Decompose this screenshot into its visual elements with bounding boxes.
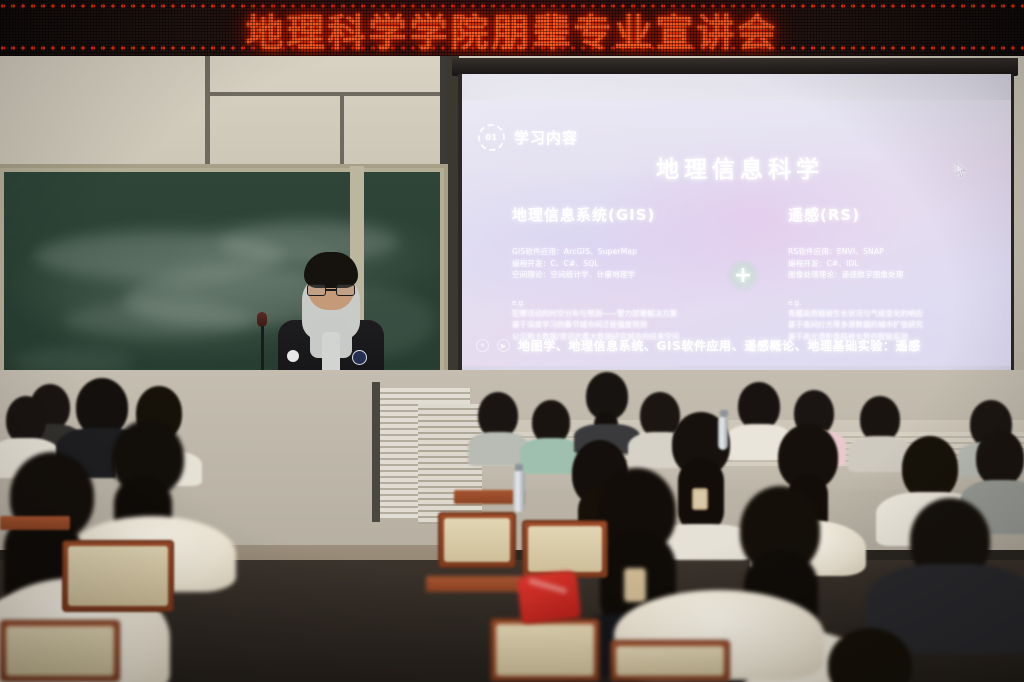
slide-footer-text: 地图学、地理信息系统、GIS软件应用、遥感概论、地理基础实验：遥感: [518, 337, 921, 354]
chair: [610, 640, 730, 682]
wall-seam: [205, 56, 210, 166]
audience-member: [578, 372, 636, 450]
gis-eg-line: 基于深度学习的春节城市间迁徙强度预测: [512, 319, 727, 331]
column-heading-gis: 地理信息系统(GIS): [512, 204, 727, 225]
column-gis-examples: e.g. 犯罪活动的时空分布与预测——警力部署解决方案 基于深度学习的春节城市间…: [512, 298, 727, 343]
gis-eg-label: e.g.: [512, 298, 727, 308]
desk: [0, 516, 70, 530]
microphone-head: [257, 312, 267, 327]
projection-screen: 01 学习内容 地理信息科学 地理信息系统(GIS) GIS软件应用：ArcGI…: [458, 74, 1014, 392]
mouse-cursor-icon: [956, 163, 966, 177]
presentation-slide: 01 学习内容 地理信息科学 地理信息系统(GIS) GIS软件应用：ArcGI…: [462, 100, 1014, 366]
water-bottle: [718, 416, 728, 450]
wall-post: [372, 382, 380, 522]
gis-line: 空间理论：空间统计学、计量地理学: [512, 269, 727, 281]
chair-pad: [528, 526, 602, 572]
column-heading-rs: 遥感(RS): [788, 204, 993, 225]
rs-eg-line: 青藏高原植被生长状况与气候变化的响应: [788, 308, 993, 320]
column-rs-examples: e.g. 青藏高原植被生长状况与气候变化的响应 基于夜间灯光等多源数据的城市扩张…: [788, 298, 993, 343]
section-number: 01: [478, 124, 505, 151]
glasses-lens-right: [336, 284, 355, 296]
bottle-cap: [515, 464, 523, 471]
slide-footer: ⏸ ▶ 地图学、地理信息系统、GIS软件应用、遥感概论、地理基础实验：遥感: [462, 337, 1014, 354]
column-gis-lines: GIS软件应用：ArcGIS、SuperMap 编程开发：C、C#、SQL 空间…: [512, 246, 727, 281]
speaker-embroidery: [336, 340, 352, 345]
gis-line: GIS软件应用：ArcGIS、SuperMap: [512, 246, 727, 258]
slide-section-title: 学习内容: [514, 127, 578, 148]
rs-eg-line: 基于夜间灯光等多源数据的城市扩张研究: [788, 319, 993, 331]
wall-seam: [205, 92, 460, 96]
water-bottle: [513, 470, 525, 512]
chair-pad: [496, 624, 594, 676]
wall-seam: [340, 92, 344, 166]
column-rs-lines: RS软件应用：ENVI、SNAP 编程开发：C#、IDL 图像处理理论：遥感数字…: [788, 246, 993, 281]
chair: [522, 520, 608, 578]
chair: [490, 618, 600, 682]
red-bag: [517, 570, 582, 624]
glasses-lens-left: [307, 284, 326, 296]
gis-line: 编程开发：C、C#、SQL: [512, 258, 727, 270]
head: [976, 430, 1024, 486]
play-button-icon[interactable]: ▶: [497, 339, 510, 352]
section-number-badge-icon: 01: [478, 124, 505, 151]
chalk-smudge: [64, 302, 254, 338]
shoulders: [468, 432, 528, 466]
chair-pad: [6, 626, 114, 676]
slide-column-gis: 地理信息系统(GIS) GIS软件应用：ArcGIS、SuperMap 编程开发…: [512, 204, 727, 342]
chair-pad: [68, 546, 168, 606]
audience-member: [470, 392, 526, 462]
bottle-cap: [720, 410, 728, 417]
chair-pad: [444, 518, 510, 562]
pause-button-icon[interactable]: ⏸: [476, 339, 489, 352]
audience-member: [802, 604, 972, 682]
head: [828, 628, 912, 682]
plus-glyph: +: [734, 265, 752, 287]
speaker-sleeve-badge: [287, 350, 299, 362]
rs-line: 编程开发：C#、IDL: [788, 258, 993, 270]
plus-connector-icon: +: [727, 260, 759, 292]
desk: [426, 576, 522, 592]
glasses-bridge: [326, 289, 336, 291]
chair: [0, 620, 120, 682]
lecture-hall-photo: 地理科学学院朋辈专业宣讲会: [0, 0, 1024, 682]
led-banner-text: 地理科学学院朋辈专业宣讲会: [0, 4, 1024, 54]
head: [902, 436, 958, 500]
speaker-hair: [304, 252, 358, 288]
rs-eg-label: e.g.: [788, 298, 993, 308]
speaker-glasses-icon: [306, 284, 356, 296]
head: [6, 396, 46, 444]
slide-section-header: 01 学习内容: [478, 124, 578, 151]
rs-line: RS软件应用：ENVI、SNAP: [788, 246, 993, 258]
chair-pad: [616, 646, 724, 676]
chair: [62, 540, 174, 612]
gis-eg-line: 犯罪活动的时空分布与预测——警力部署解决方案: [512, 308, 727, 320]
speaker-chest-logo: [352, 350, 367, 365]
chair: [438, 512, 516, 568]
bag-strap: [528, 578, 568, 595]
slide-main-title: 地理信息科学: [462, 150, 1014, 184]
wall-edge: [440, 56, 447, 166]
wall-panel-band: [0, 56, 460, 166]
slide-column-rs: 遥感(RS) RS软件应用：ENVI、SNAP 编程开发：C#、IDL 图像处理…: [788, 204, 993, 342]
rs-line: 图像处理理论：遥感数字图像处理: [788, 269, 993, 281]
led-banner: 地理科学学院朋辈专业宣讲会: [0, 0, 1024, 58]
